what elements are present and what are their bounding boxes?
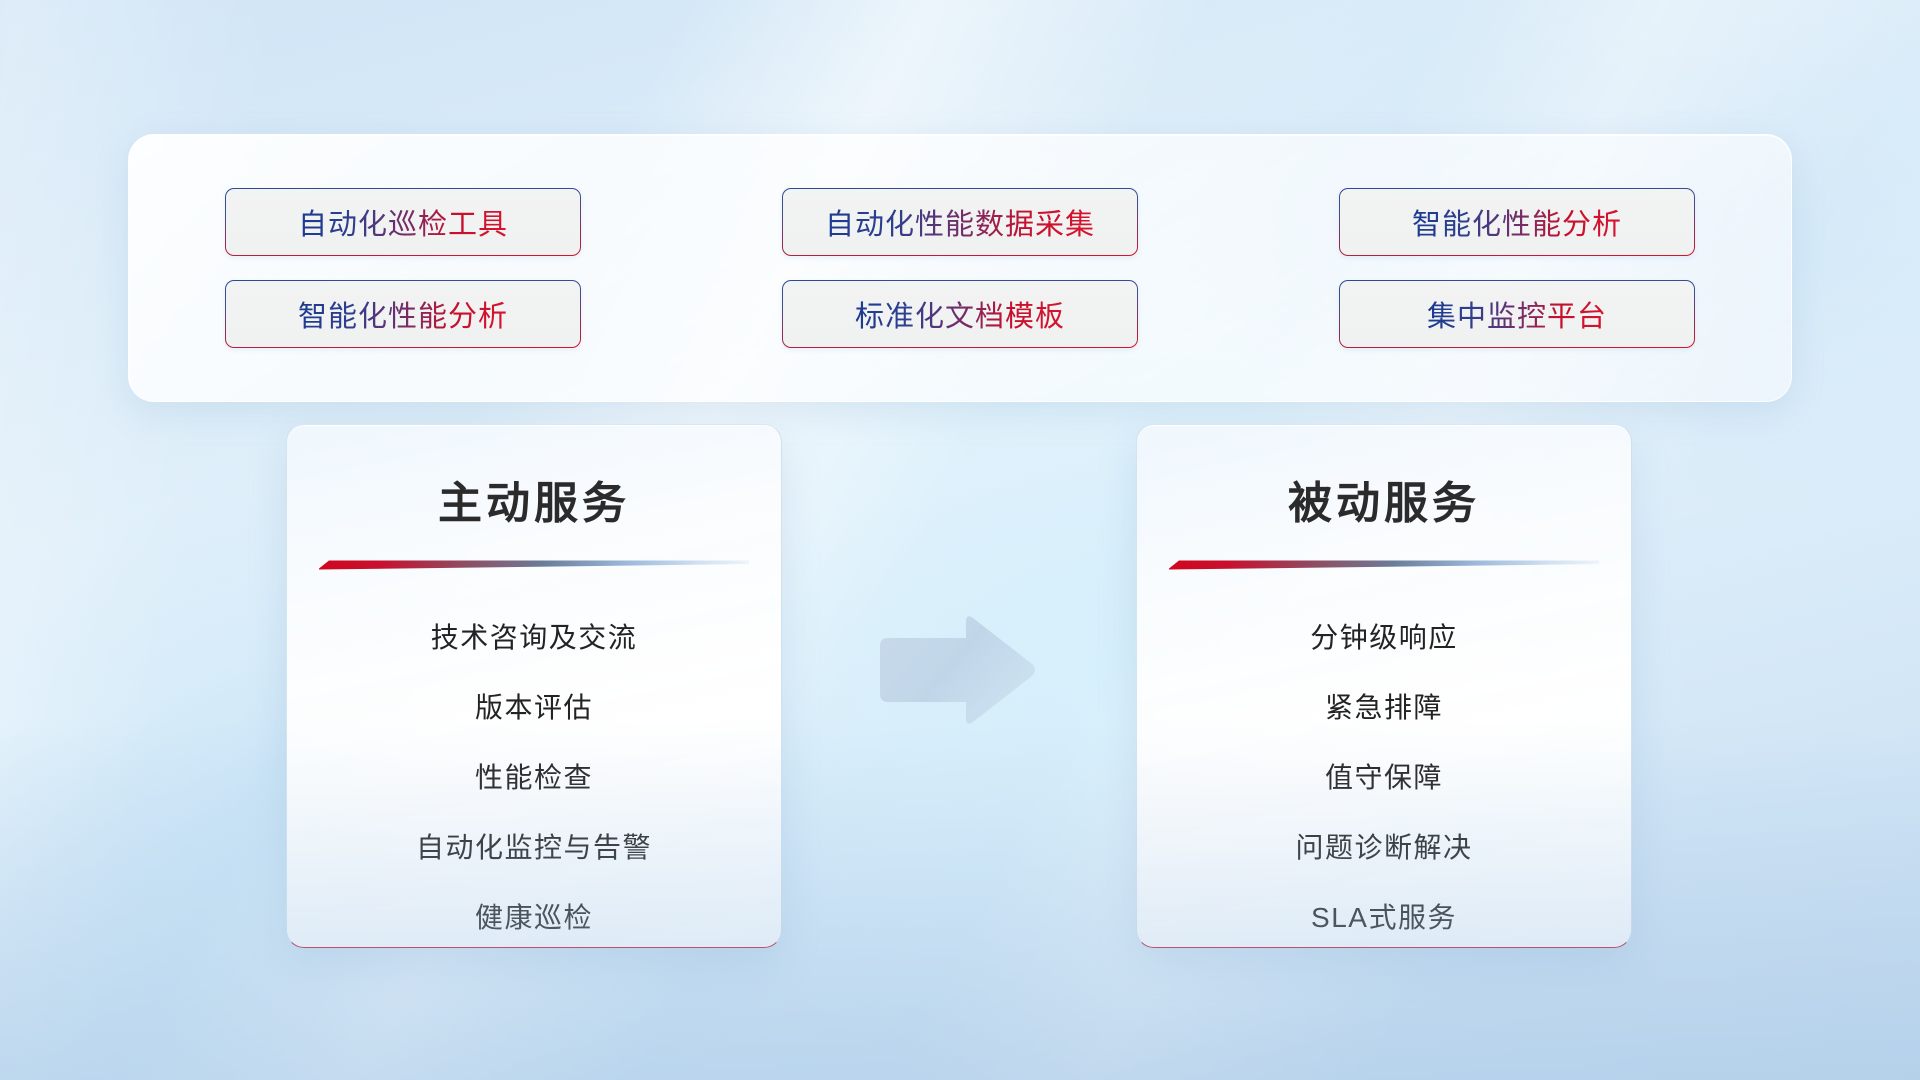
service-item: 健康巡检 (475, 883, 593, 953)
service-card-proactive: 主动服务 技术咨询及交流 版本评估 (286, 424, 782, 948)
capability-tag-panel: 自动化巡检工具 自动化性能数据采集 智能化性能分析 智能化性能分析 标准化文档模… (128, 134, 1792, 402)
capability-tag-label: 标准化文档模板 (855, 293, 1065, 335)
capability-tag-label: 智能化性能分析 (1412, 201, 1622, 243)
slide-canvas: 自动化巡检工具 自动化性能数据采集 智能化性能分析 智能化性能分析 标准化文档模… (0, 0, 1920, 1080)
service-card-reactive: 被动服务 分钟级响应 紧急排障 (1136, 424, 1632, 948)
service-item-list: 分钟级响应 紧急排障 值守保障 问题诊断解决 SLA式服务 (1167, 603, 1601, 953)
arrow-right-icon (872, 612, 1038, 728)
capability-tag-label: 自动化巡检工具 (298, 201, 508, 243)
tag-row: 自动化巡检工具 自动化性能数据采集 智能化性能分析 (225, 188, 1695, 256)
service-item: 值守保障 (1325, 743, 1443, 813)
capability-tag[interactable]: 自动化性能数据采集 (782, 188, 1138, 256)
service-item: 自动化监控与告警 (416, 813, 652, 883)
capability-tag[interactable]: 智能化性能分析 (225, 280, 581, 348)
service-item: 问题诊断解决 (1295, 813, 1472, 883)
capability-tag-label: 集中监控平台 (1427, 293, 1607, 335)
capability-tag[interactable]: 集中监控平台 (1339, 280, 1695, 348)
service-item: 版本评估 (475, 673, 593, 743)
card-title: 主动服务 (438, 467, 630, 531)
title-divider (319, 557, 749, 571)
card-title: 被动服务 (1288, 467, 1480, 531)
title-divider (1169, 557, 1599, 571)
service-item: 紧急排障 (1325, 673, 1443, 743)
capability-tag[interactable]: 自动化巡检工具 (225, 188, 581, 256)
capability-tag[interactable]: 标准化文档模板 (782, 280, 1138, 348)
service-item: 技术咨询及交流 (431, 603, 638, 673)
service-item: 性能检查 (475, 743, 593, 813)
capability-tag-label: 智能化性能分析 (298, 293, 508, 335)
service-item: SLA式服务 (1311, 883, 1457, 953)
capability-tag[interactable]: 智能化性能分析 (1339, 188, 1695, 256)
capability-tag-label: 自动化性能数据采集 (825, 201, 1095, 243)
tag-row: 智能化性能分析 标准化文档模板 集中监控平台 (225, 280, 1695, 348)
service-item-list: 技术咨询及交流 版本评估 性能检查 自动化监控与告警 健康巡检 (317, 603, 751, 953)
service-item: 分钟级响应 (1310, 603, 1458, 673)
